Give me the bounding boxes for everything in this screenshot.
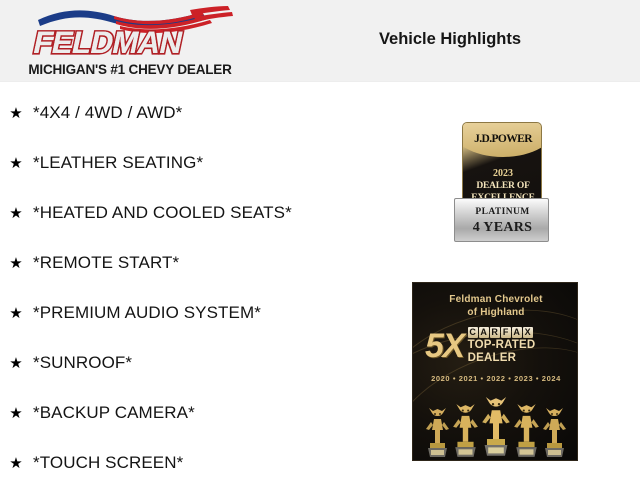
star-icon: ★ bbox=[8, 256, 24, 271]
star-icon: ★ bbox=[8, 406, 24, 421]
trophy-icon bbox=[513, 403, 540, 459]
carfax-dealer-name: Feldman Chevrolet of Highland bbox=[413, 293, 578, 319]
list-item: ★ *HEATED AND COOLED SEATS* bbox=[8, 188, 398, 238]
highlight-text: *BACKUP CAMERA* bbox=[33, 403, 195, 423]
star-icon: ★ bbox=[8, 106, 24, 121]
jdpower-silver-banner: PLATINUM 4 YEARS bbox=[454, 198, 549, 242]
vehicle-highlights-list: ★ *4X4 / 4WD / AWD* ★ *LEATHER SEATING* … bbox=[8, 88, 398, 488]
list-item: ★ *BACKUP CAMERA* bbox=[8, 388, 398, 438]
highlight-text: *PREMIUM AUDIO SYSTEM* bbox=[33, 303, 261, 323]
star-icon: ★ bbox=[8, 206, 24, 221]
jdpower-duration: 4 YEARS bbox=[455, 220, 550, 236]
carfax-letter: X bbox=[523, 327, 533, 338]
star-icon: ★ bbox=[8, 356, 24, 371]
list-item: ★ *SUNROOF* bbox=[8, 338, 398, 388]
carfax-trophy-group bbox=[423, 387, 569, 459]
carfax-multiplier: 5X bbox=[425, 331, 464, 361]
feldman-wordmark: FELDMAN FELDMAN bbox=[20, 24, 240, 62]
carfax-letter: R bbox=[490, 327, 500, 338]
list-item: ★ *LEATHER SEATING* bbox=[8, 138, 398, 188]
highlight-text: *4X4 / 4WD / AWD* bbox=[33, 103, 182, 123]
carfax-letter: A bbox=[479, 327, 489, 338]
jdpower-award-badge: J.D.POWER 2023 DEALER OF EXCELLENCE PLAT… bbox=[454, 122, 549, 242]
trophy-icon bbox=[481, 395, 511, 459]
jdpower-tier: PLATINUM bbox=[455, 207, 550, 217]
carfax-award-years: 2020 • 2021 • 2022 • 2023 • 2024 bbox=[413, 374, 578, 383]
jdpower-award-line-1: DEALER OF bbox=[463, 181, 542, 191]
jdpower-brand-text: J.D.POWER bbox=[463, 133, 542, 145]
carfax-top-rated-dealer-badge: Feldman Chevrolet of Highland 5X C A R F… bbox=[412, 282, 578, 461]
highlight-text: *LEATHER SEATING* bbox=[33, 153, 203, 173]
star-icon: ★ bbox=[8, 456, 24, 471]
star-icon: ★ bbox=[8, 156, 24, 171]
carfax-award-line-2: DEALER bbox=[468, 352, 536, 364]
carfax-letter: A bbox=[512, 327, 522, 338]
highlight-text: *SUNROOF* bbox=[33, 353, 132, 373]
trophy-icon bbox=[542, 407, 567, 459]
carfax-logo: C A R F A X bbox=[468, 327, 536, 338]
star-icon: ★ bbox=[8, 306, 24, 321]
feldman-logo: FELDMAN FELDMAN MICHIGAN'S #1 CHEVY DEAL… bbox=[20, 4, 240, 80]
carfax-letter: F bbox=[501, 327, 511, 338]
list-item: ★ *TOUCH SCREEN* bbox=[8, 438, 398, 488]
highlight-text: *TOUCH SCREEN* bbox=[33, 453, 183, 473]
list-item: ★ *REMOTE START* bbox=[8, 238, 398, 288]
svg-text:FELDMAN: FELDMAN bbox=[30, 25, 185, 60]
carfax-letter: C bbox=[468, 327, 478, 338]
carfax-award-line-1: TOP-RATED bbox=[468, 339, 536, 351]
highlight-text: *HEATED AND COOLED SEATS* bbox=[33, 203, 292, 223]
carfax-logo-stack: C A R F A X TOP-RATED DEALER bbox=[468, 327, 536, 364]
header-band: FELDMAN FELDMAN MICHIGAN'S #1 CHEVY DEAL… bbox=[0, 0, 640, 82]
page-title: Vehicle Highlights bbox=[300, 30, 600, 49]
trophy-icon bbox=[425, 407, 450, 459]
carfax-dealer-name-line-2: of Highland bbox=[413, 306, 578, 319]
carfax-award-row: 5X C A R F A X TOP-RATED DEALER bbox=[425, 327, 571, 364]
logo-tagline: MICHIGAN'S #1 CHEVY DEALER bbox=[20, 62, 240, 77]
highlight-text: *REMOTE START* bbox=[33, 253, 179, 273]
list-item: ★ *4X4 / 4WD / AWD* bbox=[8, 88, 398, 138]
list-item: ★ *PREMIUM AUDIO SYSTEM* bbox=[8, 288, 398, 338]
trophy-icon bbox=[452, 403, 479, 459]
jdpower-year: 2023 bbox=[463, 168, 542, 179]
carfax-dealer-name-line-1: Feldman Chevrolet bbox=[413, 293, 578, 306]
